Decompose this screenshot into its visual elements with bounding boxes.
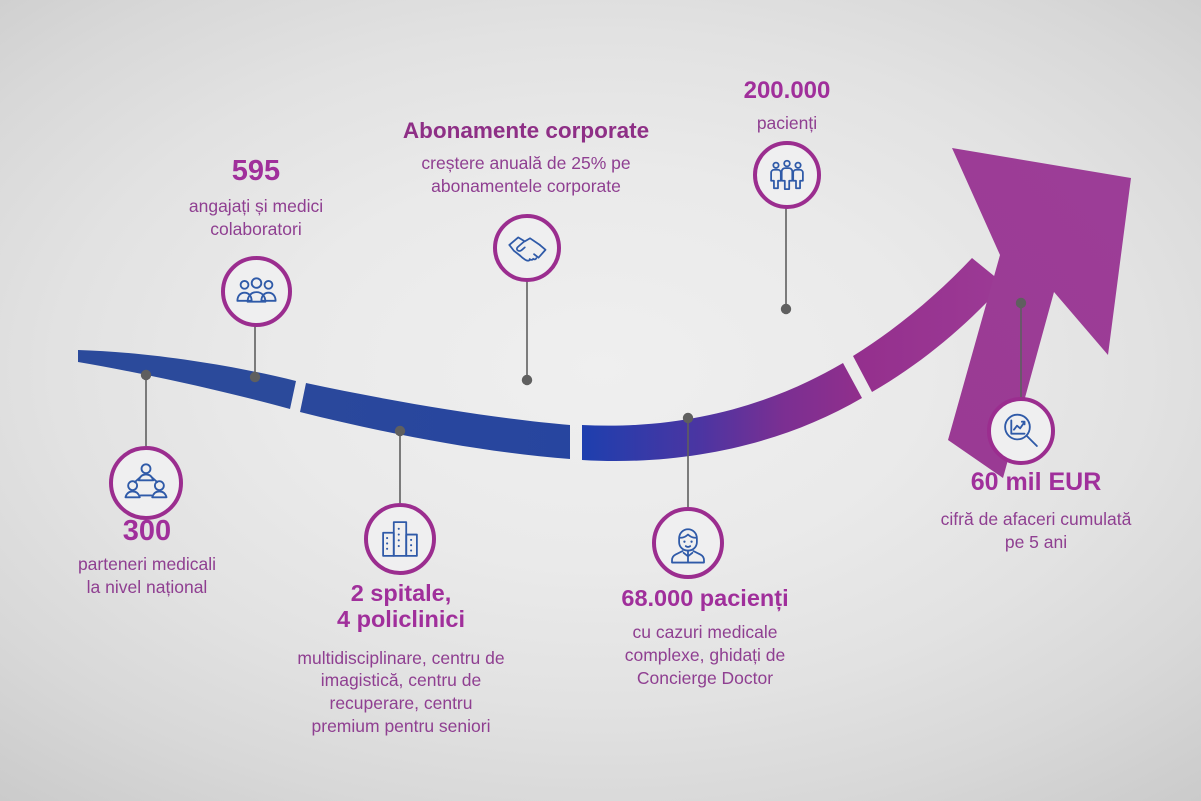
chart-magnifier-icon bbox=[991, 401, 1051, 461]
arrow-segment-1 bbox=[78, 350, 296, 409]
callout-parteneri-desc: parteneri medicali la nivel național bbox=[22, 553, 272, 599]
callout-abonamente: Abonamente corporate creștere anuală de … bbox=[380, 118, 672, 198]
people-group-icon-badge[interactable] bbox=[221, 256, 292, 327]
doctor-icon bbox=[656, 511, 720, 575]
people-group-icon bbox=[225, 260, 288, 323]
doctor-icon-badge[interactable] bbox=[652, 507, 724, 579]
callout-pacienti-complecsi-value: 68.000 pacienți bbox=[570, 585, 840, 611]
hospital-buildings-icon-badge[interactable] bbox=[364, 503, 436, 575]
callout-spitale-desc: multidisciplinare, centru de imagistică,… bbox=[272, 647, 530, 738]
patients-group-icon-badge[interactable] bbox=[753, 141, 821, 209]
patients-group-icon bbox=[757, 145, 817, 205]
chart-magnifier-icon-badge[interactable] bbox=[987, 397, 1055, 465]
partner-network-icon bbox=[113, 450, 179, 516]
arrow-segment-2 bbox=[300, 383, 570, 459]
handshake-icon-badge[interactable] bbox=[493, 214, 561, 282]
callout-spitale: 2 spitale, 4 policlinici multidisciplina… bbox=[272, 580, 530, 738]
callout-pacienti-value: 200.000 bbox=[670, 78, 904, 105]
partner-network-icon-badge[interactable] bbox=[109, 446, 183, 520]
hospital-buildings-icon bbox=[368, 507, 432, 571]
callout-parteneri-value: 300 bbox=[22, 515, 272, 547]
callout-pacienti-desc: pacienți bbox=[670, 112, 904, 135]
growth-infographic: 300 parteneri medicali la nivel național… bbox=[0, 0, 1201, 801]
callout-angajati-desc: angajați și medici colaboratori bbox=[134, 195, 378, 241]
arrow-segment-3 bbox=[582, 363, 862, 461]
callout-cifra-afaceri: 60 mil EUR cifră de afaceri cumulată pe … bbox=[905, 468, 1167, 554]
callout-pacienti-complecsi: 68.000 pacienți cu cazuri medicale compl… bbox=[570, 585, 840, 690]
callout-cifra-afaceri-desc: cifră de afaceri cumulată pe 5 ani bbox=[905, 508, 1167, 554]
callout-abonamente-value: Abonamente corporate bbox=[380, 118, 672, 143]
callout-angajati: 595 angajați și medici colaboratori bbox=[134, 155, 378, 241]
callout-spitale-value: 2 spitale, 4 policlinici bbox=[272, 580, 530, 633]
callout-pacienti: 200.000 pacienți bbox=[670, 78, 904, 135]
handshake-icon bbox=[497, 218, 557, 278]
callout-pacienti-complecsi-desc: cu cazuri medicale complexe, ghidați de … bbox=[570, 621, 840, 689]
callout-parteneri: 300 parteneri medicali la nivel național bbox=[22, 515, 272, 599]
callout-angajati-value: 595 bbox=[134, 155, 378, 187]
callout-abonamente-desc: creștere anuală de 25% pe abonamentele c… bbox=[380, 152, 672, 198]
callout-cifra-afaceri-value: 60 mil EUR bbox=[905, 468, 1167, 496]
